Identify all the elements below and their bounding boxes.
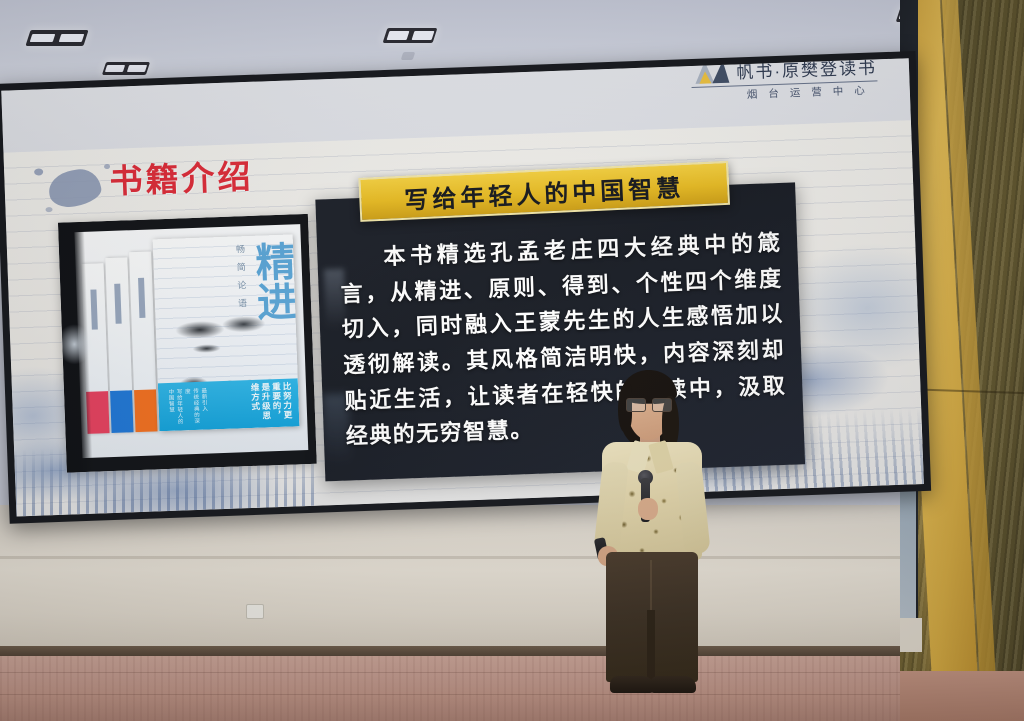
cover-mountain-art [169, 309, 282, 339]
slide-banner-text: 写给年轻人的中国智慧 [404, 167, 685, 215]
ceiling-downlight-icon [102, 62, 150, 75]
presentation-room-scene: 帆书·原樊登读书 烟台运营中心 书籍介绍 [0, 0, 1024, 721]
wall-below-screen [0, 505, 1024, 650]
trouser-gap [647, 610, 655, 682]
stage-floor [0, 656, 1024, 721]
slide-title: 书籍介绍 [109, 150, 255, 203]
obi-left-text: 最新引入 传统经典的深度 写给年轻人的 中国智慧 [166, 388, 209, 427]
brand-logo: 帆书·原樊登读书 烟台运营中心 [663, 58, 879, 111]
ceiling-downlight-icon [383, 28, 438, 43]
book-photo: 畅简论语 精进 最新引入 传统经典的深度 写给年轻人的 中国智慧 比努力更 重要… [58, 214, 317, 473]
slide: 书籍介绍 [3, 120, 923, 516]
brand-subtitle: 烟台运营中心 [747, 82, 878, 102]
shoe [610, 676, 654, 693]
screen-surface: 帆书·原樊登读书 烟台运营中心 书籍介绍 [1, 58, 924, 516]
glasses-icon [626, 398, 672, 410]
cover-mountain-art [184, 341, 228, 356]
wall-trim-line [0, 556, 1024, 559]
wall-socket-icon [246, 604, 264, 619]
slide-body-paragraph: 本书精选孔孟老庄四大经典中的箴言，从精进、原则、得到、个性四个维度切入，同时融入… [339, 225, 788, 454]
book-obi-band: 最新引入 传统经典的深度 写给年轻人的 中国智慧 比努力更 重要的， 是升级思 … [158, 378, 300, 431]
slide-text-panel: 本书精选孔孟老庄四大经典中的箴言，从精进、原则、得到、个性四个维度切入，同时融入… [315, 182, 805, 481]
book-cover-title: 精进 [252, 241, 293, 372]
shoe [650, 676, 696, 693]
led-screen: 帆书·原樊登读书 烟台运营中心 书籍介绍 [0, 51, 931, 524]
obi-right-text: 比努力更 重要的， 是升级思 维方式 [249, 382, 293, 425]
ceiling-downlight-icon [25, 30, 88, 46]
presenter [590, 370, 715, 700]
book-front-cover: 畅简论语 精进 最新引入 传统经典的深度 写给年轻人的 中国智慧 比努力更 重要… [153, 234, 300, 431]
right-hand [638, 498, 658, 520]
